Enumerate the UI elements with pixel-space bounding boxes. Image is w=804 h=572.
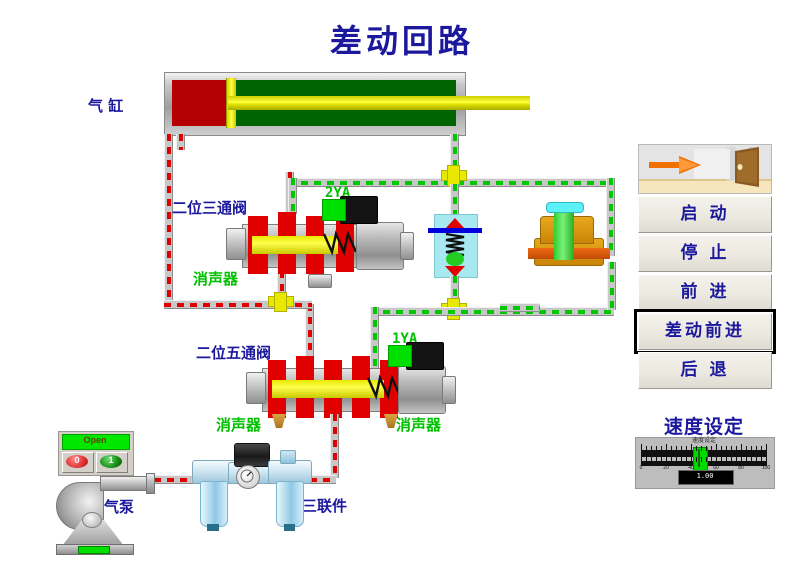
air-pump-outlet-pipe bbox=[100, 476, 150, 491]
speed-tick-lower bbox=[746, 457, 747, 462]
pump-off-label: 0 bbox=[66, 455, 88, 465]
speed-tick-label: 40 bbox=[683, 466, 699, 471]
air-pump-label: 气泵 bbox=[104, 496, 134, 517]
frl-unit-label: 三联件 bbox=[302, 495, 347, 516]
valve-3-2-end-cap bbox=[226, 228, 246, 260]
speed-tick-lower bbox=[756, 457, 757, 462]
air-pump-foot-indicator bbox=[78, 546, 110, 554]
pipe-checkvalve-in bbox=[450, 184, 459, 216]
speed-tick-lower bbox=[731, 457, 732, 462]
speed-tick-upper bbox=[696, 446, 697, 451]
speed-tick-lower bbox=[681, 457, 682, 462]
speed-tick-upper bbox=[711, 446, 712, 451]
pipe-throttle-return bbox=[607, 262, 616, 310]
stop-button[interactable]: 停 止 bbox=[638, 235, 772, 272]
speed-slider-caption: 速度设定 bbox=[635, 438, 773, 444]
cylinder-label: 气 缸 bbox=[88, 95, 123, 116]
speed-tick-upper bbox=[641, 444, 642, 451]
control-panel: 启 动 停 止 前 进 差动前进 后 退 bbox=[638, 144, 770, 389]
speed-tick-lower bbox=[716, 457, 717, 464]
speed-tick-label: 60 bbox=[708, 466, 724, 471]
pipe-throttle-inlet-h bbox=[500, 303, 540, 312]
air-pump-hub bbox=[82, 512, 102, 528]
valve-3-2-actuator-cap bbox=[400, 232, 414, 260]
page-title: 差动回路 bbox=[0, 16, 804, 62]
speed-tick-lower bbox=[646, 457, 647, 462]
speed-tick-lower bbox=[721, 457, 722, 462]
diagram-canvas: 差动回路 气 缸 bbox=[0, 0, 804, 572]
muffler-left-icon bbox=[272, 414, 286, 428]
speed-tick-upper bbox=[726, 446, 727, 451]
pipe-right-riser bbox=[606, 178, 615, 256]
throttle-valve-handwheel bbox=[546, 202, 584, 213]
speed-tick-lower bbox=[751, 457, 752, 462]
speed-tick-upper bbox=[651, 446, 652, 451]
pipe-3-2-green-drop bbox=[288, 178, 297, 214]
speed-tick-upper bbox=[671, 446, 672, 451]
valve-5-2-actuator bbox=[398, 366, 446, 414]
door-enter-icon bbox=[638, 144, 772, 194]
frl-lubricator-drain bbox=[284, 524, 295, 531]
speed-tick-label: 80 bbox=[733, 466, 749, 471]
speed-tick-lower bbox=[656, 457, 657, 462]
valve-3-2-spring-icon bbox=[322, 230, 360, 260]
pipe-green-to-5-2 bbox=[370, 307, 379, 369]
speed-tick-lower bbox=[696, 457, 697, 462]
frl-filter-drain bbox=[207, 524, 219, 531]
speed-slider-thumb-grip bbox=[698, 449, 700, 467]
fitting-tee-3-2-v bbox=[274, 292, 287, 312]
frl-filter-bowl bbox=[200, 481, 228, 527]
pipe-cap-bottom-horizontal bbox=[164, 300, 284, 309]
speed-tick-upper bbox=[701, 446, 702, 451]
speed-tick-upper bbox=[706, 446, 707, 451]
speed-tick-lower bbox=[726, 457, 727, 462]
speed-tick-upper bbox=[756, 446, 757, 451]
speed-tick-lower bbox=[766, 457, 767, 464]
speed-tick-lower bbox=[706, 457, 707, 462]
speed-tick-upper bbox=[681, 446, 682, 451]
speed-tick-lower bbox=[661, 457, 662, 462]
valve-5-2-muffler-left-label: 消声器 bbox=[216, 414, 261, 435]
pump-status-label: Open bbox=[62, 435, 128, 445]
speed-tick-upper bbox=[656, 446, 657, 451]
speed-tick-upper bbox=[676, 446, 677, 451]
speed-tick-lower bbox=[651, 457, 652, 462]
solenoid-1ya-indicator bbox=[388, 345, 412, 367]
valve-3-2-muffler-label: 消声器 bbox=[193, 268, 238, 289]
solenoid-2ya-indicator bbox=[322, 199, 346, 221]
speed-tick-lower bbox=[711, 457, 712, 462]
speed-tick-upper bbox=[686, 446, 687, 451]
valve-3-2-actuator bbox=[356, 222, 404, 270]
speed-tick-lower bbox=[641, 457, 642, 464]
speed-tick-upper bbox=[731, 446, 732, 451]
speed-tick-upper bbox=[666, 444, 667, 451]
speed-tick-label: 100 bbox=[758, 466, 774, 471]
cylinder-rod bbox=[228, 96, 530, 110]
speed-tick-upper bbox=[741, 444, 742, 451]
pipe-5-2-supply-drop bbox=[330, 414, 339, 478]
valve-3-2-exhaust-port bbox=[308, 274, 332, 288]
frl-gauge-needle-icon bbox=[240, 469, 254, 483]
speed-tick-upper bbox=[761, 446, 762, 451]
speed-tick-upper bbox=[646, 446, 647, 451]
frl-lubricator-bowl bbox=[276, 481, 304, 527]
speed-tick-label: 20 bbox=[658, 466, 674, 471]
speed-value-text: 1.00 bbox=[678, 471, 732, 482]
frl-lubricator-filler bbox=[280, 450, 296, 464]
speed-tick-upper bbox=[721, 446, 722, 451]
differential-forward-button[interactable]: 差动前进 bbox=[638, 313, 772, 350]
pipe-bottom-green-bus bbox=[370, 307, 614, 316]
valve-3-2-label: 二位三通阀 bbox=[172, 197, 247, 218]
speed-tick-lower bbox=[666, 457, 667, 464]
valve-5-2-label: 二位五通阀 bbox=[196, 342, 271, 363]
start-button[interactable]: 启 动 bbox=[638, 196, 772, 233]
speed-setting-title: 速度设定 bbox=[638, 412, 770, 439]
speed-tick-label: 0 bbox=[633, 466, 649, 471]
pipe-cap-port-stub bbox=[176, 134, 185, 150]
pump-on-label: 1 bbox=[100, 455, 122, 465]
speed-tick-lower bbox=[686, 457, 687, 462]
reverse-button[interactable]: 后 退 bbox=[638, 352, 772, 389]
valve-5-2-actuator-cap bbox=[442, 376, 456, 404]
pipe-cap-port-vertical bbox=[164, 134, 173, 302]
speed-tick-lower bbox=[761, 457, 762, 462]
speed-tick-upper bbox=[736, 446, 737, 451]
valve-5-2-end-cap bbox=[246, 372, 266, 404]
speed-tick-lower bbox=[736, 457, 737, 462]
valve-5-2-muffler-right-label: 消声器 bbox=[396, 414, 441, 435]
speed-tick-upper bbox=[746, 446, 747, 451]
speed-tick-lower bbox=[676, 457, 677, 462]
cylinder-chamber-cap-side bbox=[172, 80, 226, 126]
speed-tick-upper bbox=[661, 446, 662, 451]
speed-tick-lower bbox=[741, 457, 742, 464]
speed-tick-lower bbox=[671, 457, 672, 462]
air-pump-outlet-flange bbox=[146, 473, 155, 494]
speed-tick-upper bbox=[691, 444, 692, 451]
speed-tick-lower bbox=[691, 457, 692, 464]
check-valve-ball bbox=[446, 252, 464, 266]
speed-tick-lower bbox=[701, 457, 702, 462]
speed-tick-upper bbox=[716, 444, 717, 451]
frl-regulator-knob bbox=[234, 443, 270, 467]
speed-tick-upper bbox=[766, 444, 767, 451]
throttle-valve-stem bbox=[554, 208, 574, 260]
forward-button[interactable]: 前 进 bbox=[638, 274, 772, 311]
speed-tick-upper bbox=[751, 446, 752, 451]
